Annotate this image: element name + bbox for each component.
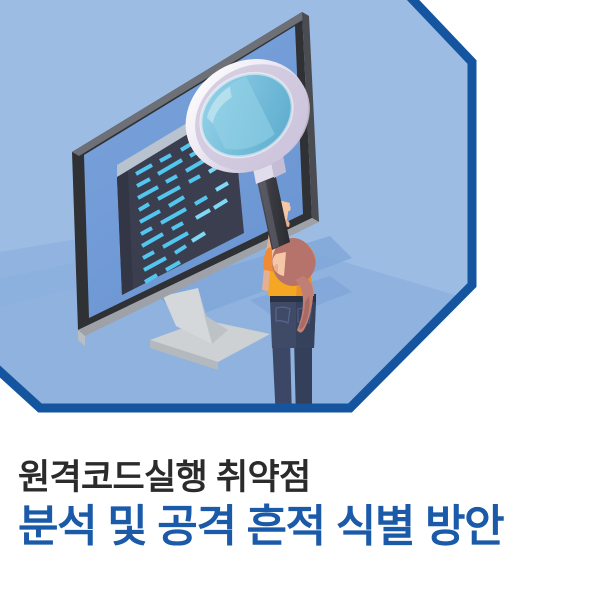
banner-subtitle: 원격코드실행 취약점 — [0, 448, 600, 500]
banner-title: 분석 및 공격 흔적 식별 방안 — [0, 500, 600, 554]
illustration-area — [0, 0, 600, 445]
security-banner: 원격코드실행 취약점 분석 및 공격 흔적 식별 방안 — [0, 0, 600, 600]
title-block: 원격코드실행 취약점 분석 및 공격 흔적 식별 방안 — [0, 448, 600, 600]
isometric-code-inspection-illustration — [0, 0, 600, 445]
